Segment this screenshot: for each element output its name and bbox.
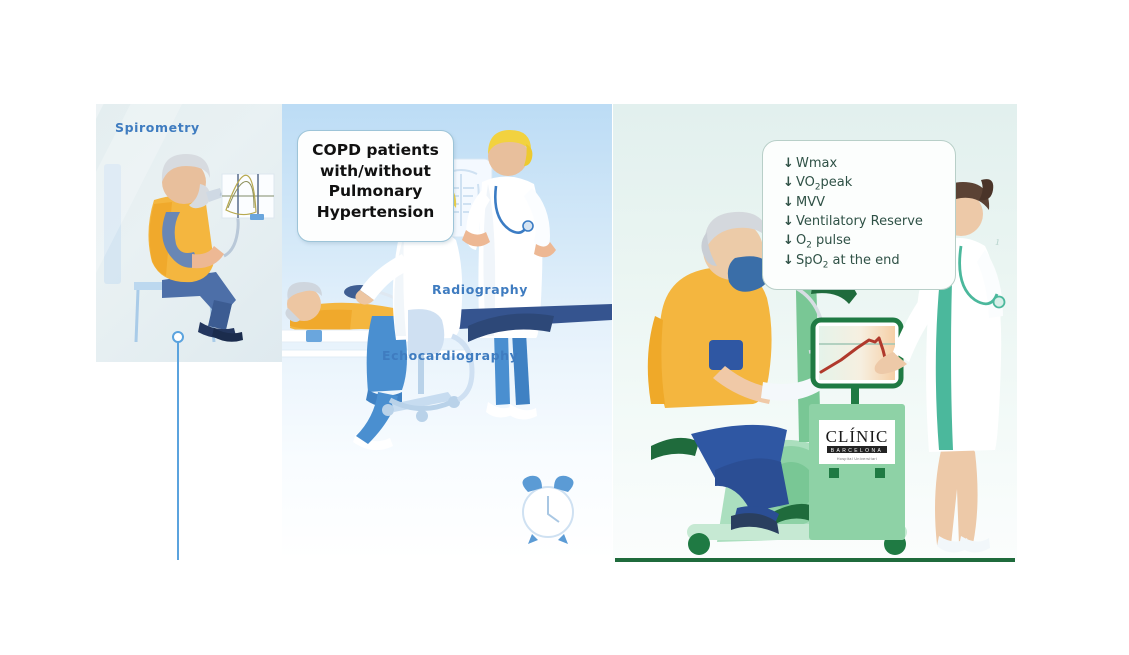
finding-item: ↓Wmax	[783, 155, 955, 174]
title-callout-text: COPD patients with/without Pulmonary Hyp…	[298, 131, 453, 222]
cpet-monitor-cart: CLÍNIC BARCELONA Hospital Universitari	[809, 320, 905, 540]
finding-label: SpO2 at the end	[796, 253, 900, 268]
label-spirometry: Spirometry	[115, 120, 200, 135]
finding-label: VO2peak	[796, 175, 852, 190]
label-echocardiography: Echocardiography	[382, 348, 518, 363]
clinic-logo-name: CLÍNIC	[826, 427, 889, 446]
figure-canvas: Spirometry	[0, 0, 1129, 655]
finding-label: MVV	[796, 195, 825, 210]
down-arrow-icon: ↓	[783, 213, 796, 232]
finding-item: ↓SpO2 at the end	[783, 252, 955, 272]
down-arrow-icon: ↓	[783, 194, 796, 213]
findings-list: ↓Wmax ↓VO2peak ↓MVV ↓Ventilatory Reserve…	[763, 141, 955, 273]
findings-callout-box: ↓Wmax ↓VO2peak ↓MVV ↓Ventilatory Reserve…	[762, 140, 956, 290]
finding-label: Wmax	[796, 156, 837, 171]
clinic-logo-bar-text: BARCELONA	[831, 448, 883, 454]
alarm-clock-icon	[522, 476, 573, 544]
down-arrow-icon: ↓	[783, 174, 796, 193]
finding-item: ↓O2 pulse	[783, 232, 955, 252]
finding-item: ↓MVV	[783, 194, 955, 213]
clinic-logo-subtext: Hospital Universitari	[837, 457, 877, 461]
title-callout-box: COPD patients with/without Pulmonary Hyp…	[297, 130, 454, 242]
finding-item: ↓Ventilatory Reserve	[783, 213, 955, 232]
exercise-panel-ground-line	[615, 558, 1015, 562]
down-arrow-icon: ↓	[783, 155, 796, 174]
panel-spirometry	[96, 104, 282, 362]
finding-label: O2 pulse	[796, 233, 851, 248]
label-radiography: Radiography	[432, 282, 528, 297]
spirometry-stand-knob	[172, 331, 184, 343]
finding-item: ↓VO2peak	[783, 174, 955, 194]
down-arrow-icon: ↓	[783, 252, 796, 271]
finding-label: Ventilatory Reserve	[796, 214, 923, 229]
spirometry-stand-line	[177, 336, 179, 560]
down-arrow-icon: ↓	[783, 232, 796, 251]
